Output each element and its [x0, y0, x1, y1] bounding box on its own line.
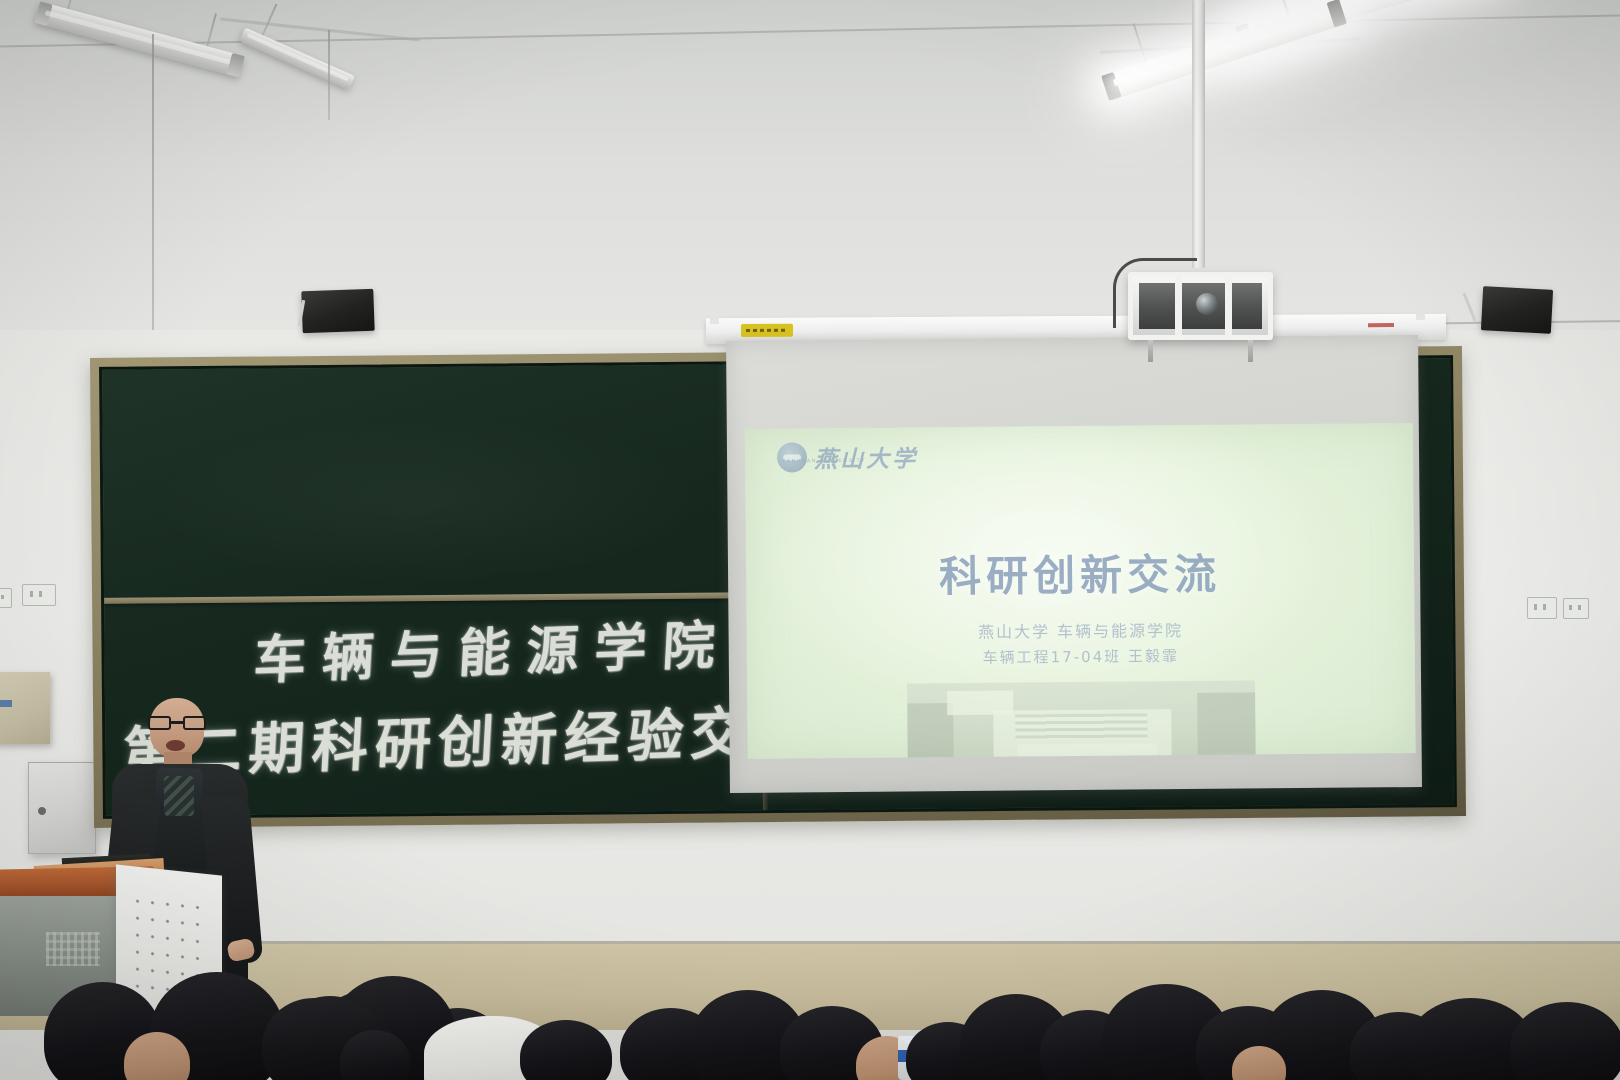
wall-outlet-left-2[interactable]: [0, 588, 12, 608]
cage-bar: [1175, 277, 1182, 335]
photo-shape: [1018, 743, 1158, 759]
wall-switch-right-1[interactable]: [1527, 597, 1557, 619]
projected-slide: 燕山大学 YANSHAN UNIVERSITY 科研创新交流 燕山大学 车辆与能…: [745, 423, 1416, 759]
warning-sticker-icon: [741, 324, 793, 337]
projector-drop-pole: [1192, 0, 1205, 268]
housing-red-marking: [1368, 323, 1394, 327]
glasses-lens-left: [148, 716, 171, 730]
projection-screen[interactable]: 燕山大学 YANSHAN UNIVERSITY 科研创新交流 燕山大学 车辆与能…: [726, 335, 1422, 793]
cage-bar: [1225, 277, 1232, 335]
beige-wall-box: [0, 672, 50, 744]
slide-subtitle-presenter: 车辆工程17-04班 王毅霏: [747, 643, 1415, 670]
slide-campus-photo: [907, 680, 1256, 758]
presenter-mouth: [166, 740, 185, 751]
glasses-bridge: [171, 721, 183, 724]
hanging-wire: [328, 30, 330, 120]
sticker-text-lines: [746, 329, 788, 332]
seated-audience: [0, 900, 1620, 1080]
slide-title: 科研创新交流: [746, 539, 1415, 606]
cage-foot: [1148, 340, 1153, 362]
wall-speaker-left: [301, 289, 374, 333]
projector-cage-mount: [1128, 272, 1273, 340]
audience-head: [1510, 1002, 1620, 1080]
blackboard-heading: 车辆与能源学院: [252, 603, 733, 694]
photo-window-rows: [1015, 713, 1147, 740]
audience-head: [520, 1020, 612, 1080]
university-logo-subtext: YANSHAN UNIVERSITY: [782, 458, 866, 465]
wall-outlet-left[interactable]: [22, 584, 56, 606]
glasses-lens-right: [183, 716, 206, 730]
wall-speaker-right: [1481, 286, 1553, 334]
presenter-sweater: [164, 776, 194, 816]
glasses-icon: [148, 716, 206, 731]
university-logo-text: 燕山大学: [814, 439, 918, 474]
cage-foot: [1248, 340, 1253, 362]
wall-switch-right-2[interactable]: [1563, 598, 1589, 619]
housing-bracket: [710, 308, 719, 324]
housing-bracket: [1416, 304, 1425, 320]
slide-subtitle-affiliation: 燕山大学 车辆与能源学院: [746, 615, 1414, 645]
photo-shape: [1197, 692, 1256, 758]
classroom-scene: 车辆与能源学院 第二期科研创新经验交流会 燕山大学 YANSHAN UNIVER…: [0, 0, 1620, 1080]
electrical-cabinet[interactable]: [28, 762, 96, 854]
